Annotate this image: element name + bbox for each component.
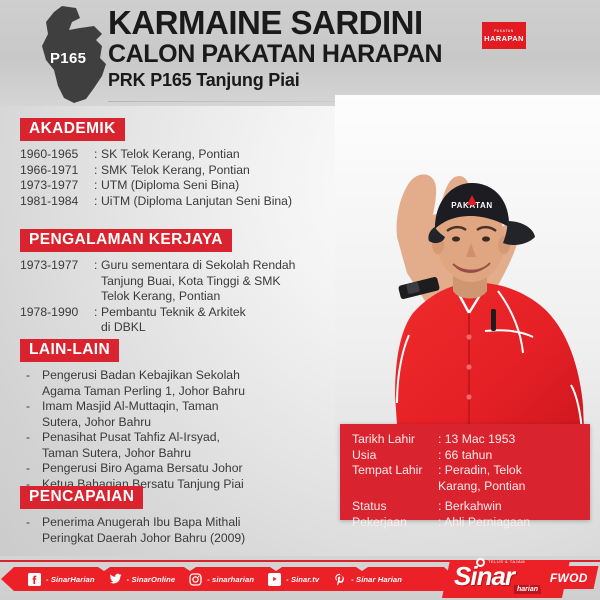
detail-label: Pekerjaan: [352, 515, 438, 531]
list-item: - Pengerusi Biro Agama Bersatu Johor: [20, 461, 245, 477]
table-row: 1981-1984 : UiTM (Diploma Lanjutan Seni …: [20, 194, 292, 210]
social-facebook[interactable]: - SinarHarian: [14, 567, 95, 591]
detail-row: Tempat Lahir : Peradin, Telok: [340, 463, 590, 479]
row-continuation: Tanjung Buai, Kota Tinggi & SMK: [20, 274, 295, 290]
detail-row: Status : Berkahwin: [340, 499, 590, 515]
akademik-rows: 1960-1965 : SK Telok Kerang, Pontian 196…: [20, 147, 292, 209]
list-item: - Penerima Anugerah Ibu Bapa Mithali Per…: [20, 515, 245, 546]
list-item-line2: Agama Taman Perling 1, Johor Bahru: [42, 384, 245, 398]
list-item-line1: Pengerusi Badan Kebajikan Sekolah: [42, 368, 240, 382]
list-item: - Imam Masjid Al-Muttaqin, Taman Sutera,…: [20, 399, 245, 430]
table-row: 1960-1965 : SK Telok Kerang, Pontian: [20, 147, 292, 163]
bullet-dash: -: [20, 368, 42, 399]
candidate-photo: PAKATAN: [335, 95, 600, 455]
detail-value-text: 13 Mac 1953: [445, 432, 515, 446]
handle-text: SinarOnline: [131, 575, 175, 584]
list-item-line1: Pengerusi Biro Agama Bersatu Johor: [42, 461, 245, 477]
candidate-name: KARMAINE SARDINI: [108, 6, 528, 40]
row-separator: :: [94, 147, 101, 163]
pinterest-icon: [333, 573, 346, 586]
row-years: 1973-1977: [20, 178, 94, 194]
section-heading-akademik: AKADEMIK: [20, 118, 125, 141]
twitter-icon: [109, 573, 122, 586]
table-row: 1978-1990 : Pembantu Teknik & Arkitek: [20, 305, 295, 321]
detail-separator: :: [438, 499, 441, 513]
detail-separator: :: [438, 432, 441, 446]
row-separator: :: [94, 178, 101, 194]
detail-value: : Berkahwin: [438, 499, 590, 515]
row-continuation: Telok Kerang, Pontian: [20, 289, 295, 305]
list-item-line1: Imam Masjid Al-Muttaqin, Taman: [42, 399, 219, 413]
row-text: SK Telok Kerang, Pontian: [101, 147, 292, 163]
social-handle: - Sinar.tv: [286, 575, 319, 584]
list-item-text: Pengerusi Badan Kebajikan Sekolah Agama …: [42, 368, 245, 399]
row-text: Pembantu Teknik & Arkitek: [101, 305, 295, 321]
social-handle: - Sinar Harian: [351, 575, 402, 584]
pencapaian-list: - Penerima Anugerah Ibu Bapa Mithali Per…: [20, 515, 245, 546]
bullet-dash: -: [20, 399, 42, 430]
handle-dash: -: [46, 575, 49, 584]
section-heading-pengalaman: PENGALAMAN KERJAYA: [20, 229, 232, 252]
social-ribbon: - SinarHarian - SinarOnline: [14, 567, 444, 591]
row-text: UiTM (Diploma Lanjutan Seni Bina): [101, 194, 292, 210]
social-handle: - SinarHarian: [46, 575, 95, 584]
handle-dash: -: [286, 575, 289, 584]
logo-brand-sub: harian: [514, 585, 541, 594]
handle-text: Sinar.tv: [291, 575, 319, 584]
row-separator: :: [94, 305, 101, 321]
fwod-badge: FWOD: [540, 566, 599, 589]
handle-dash: -: [207, 575, 210, 584]
detail-label: Tarikh Lahir: [352, 432, 438, 448]
list-item: - Penasihat Pusat Tahfiz Al-Irsyad, Tama…: [20, 430, 245, 461]
row-years: 1981-1984: [20, 194, 94, 210]
detail-value: : Ahli Perniagaan: [438, 515, 590, 531]
detail-value-text: Peradin, Telok: [445, 463, 522, 477]
constituency-code: P165: [50, 50, 86, 67]
constituency-map-icon: P165: [36, 4, 118, 104]
handle-dash: -: [127, 575, 130, 584]
section-heading-lain-lain: LAIN-LAIN: [20, 339, 119, 362]
handle-dash: -: [351, 575, 354, 584]
detail-value-text: 66 tahun: [445, 448, 492, 462]
section-pengalaman-kerjaya: PENGALAMAN KERJAYA 1973-1977 : Guru seme…: [20, 229, 295, 336]
row-years: 1978-1990: [20, 305, 94, 321]
list-item-text: Imam Masjid Al-Muttaqin, Taman Sutera, J…: [42, 399, 245, 430]
instagram-icon: [189, 573, 202, 586]
personal-details-box: Tarikh Lahir : 13 Mac 1953 Usia : 66 tah…: [340, 424, 590, 520]
social-handle: - sinarharian: [207, 575, 254, 584]
detail-label: Status: [352, 499, 438, 515]
youtube-icon: [268, 573, 281, 586]
poster-title: KARMAINE SARDINI CALON PAKATAN HARAPAN P…: [108, 6, 528, 91]
list-item: - Pengerusi Badan Kebajikan Sekolah Agam…: [20, 368, 245, 399]
row-text: SMK Telok Kerang, Pontian: [101, 163, 292, 179]
row-years: 1966-1971: [20, 163, 94, 179]
social-youtube[interactable]: - Sinar.tv: [254, 567, 319, 591]
row-continuation: di DBKL: [20, 320, 295, 336]
row-text: UTM (Diploma Seni Bina): [101, 178, 292, 194]
list-item-line2: Sutera, Johor Bahru: [42, 415, 151, 429]
poster-footer: - SinarHarian - SinarOnline: [0, 556, 600, 600]
detail-row: Pekerjaan : Ahli Perniagaan: [340, 515, 590, 531]
social-links: - SinarHarian - SinarOnline: [14, 567, 444, 591]
list-item-line2: Peringkat Daerah Johor Bahru (2009): [42, 531, 245, 545]
social-handle: - SinarOnline: [127, 575, 176, 584]
detail-row: Tarikh Lahir : 13 Mac 1953: [340, 432, 590, 448]
detail-value: : Peradin, Telok: [438, 463, 590, 479]
detail-value: : 66 tahun: [438, 448, 590, 464]
list-item-line1: Penerima Anugerah Ibu Bapa Mithali: [42, 515, 241, 529]
list-item-line1: Penasihat Pusat Tahfiz Al-Irsyad,: [42, 430, 220, 444]
row-separator: :: [94, 163, 101, 179]
row-text: Guru sementara di Sekolah Rendah: [101, 258, 295, 274]
facebook-icon: [28, 573, 41, 586]
list-item-text: Penerima Anugerah Ibu Bapa Mithali Perin…: [42, 515, 245, 546]
bullet-dash: -: [20, 461, 42, 477]
logo-main-text: HARAPAN: [484, 34, 524, 43]
social-pinterest[interactable]: - Sinar Harian: [319, 567, 402, 591]
row-separator: :: [94, 258, 101, 274]
handle-text: sinarharian: [212, 575, 254, 584]
lain-lain-list: - Pengerusi Badan Kebajikan Sekolah Agam…: [20, 368, 245, 492]
bullet-dash: -: [20, 430, 42, 461]
list-item-line2: Taman Sutera, Johor Bahru: [42, 446, 191, 460]
handle-text: Sinar Harian: [356, 575, 402, 584]
detail-label: Tempat Lahir: [352, 463, 438, 479]
logo-brand-name: Sinar: [454, 563, 514, 589]
pakatan-harapan-logo: PAKATAN HARAPAN: [482, 22, 526, 49]
election-subtitle: PRK P165 Tanjung Piai: [108, 69, 528, 91]
detail-separator: :: [438, 515, 441, 529]
row-years: 1973-1977: [20, 258, 94, 274]
pengalaman-rows: 1973-1977 : Guru sementara di Sekolah Re…: [20, 258, 295, 336]
row-years: 1960-1965: [20, 147, 94, 163]
section-akademik: AKADEMIK 1960-1965 : SK Telok Kerang, Po…: [20, 118, 292, 209]
section-heading-pencapaian: PENCAPAIAN: [20, 486, 143, 509]
table-row: 1966-1971 : SMK Telok Kerang, Pontian: [20, 163, 292, 179]
table-row: 1973-1977 : UTM (Diploma Seni Bina): [20, 178, 292, 194]
table-row: 1973-1977 : Guru sementara di Sekolah Re…: [20, 258, 295, 274]
candidate-coalition: CALON PAKATAN HARAPAN: [108, 41, 528, 67]
poster-header: P165 KARMAINE SARDINI CALON PAKATAN HARA…: [0, 0, 600, 106]
detail-value-text: Berkahwin: [445, 499, 502, 513]
list-item-text: Penasihat Pusat Tahfiz Al-Irsyad, Taman …: [42, 430, 245, 461]
section-lain-lain: LAIN-LAIN - Pengerusi Badan Kebajikan Se…: [20, 339, 245, 492]
detail-row: Usia : 66 tahun: [340, 448, 590, 464]
detail-separator: :: [438, 448, 441, 462]
handle-text: SinarHarian: [51, 575, 95, 584]
social-instagram[interactable]: - sinarharian: [175, 567, 254, 591]
detail-value-continuation: Karang, Pontian: [340, 479, 590, 495]
social-twitter[interactable]: - SinarOnline: [95, 567, 176, 591]
infographic-poster: P165 KARMAINE SARDINI CALON PAKATAN HARA…: [0, 0, 600, 600]
detail-value: : 13 Mac 1953: [438, 432, 590, 448]
section-pencapaian: PENCAPAIAN - Penerima Anugerah Ibu Bapa …: [20, 486, 245, 546]
detail-separator: :: [438, 463, 441, 477]
bullet-dash: -: [20, 515, 42, 546]
detail-value-text: Ahli Perniagaan: [444, 515, 530, 529]
row-separator: :: [94, 194, 101, 210]
fwod-label: FWOD: [550, 571, 588, 585]
detail-label: Usia: [352, 448, 438, 464]
